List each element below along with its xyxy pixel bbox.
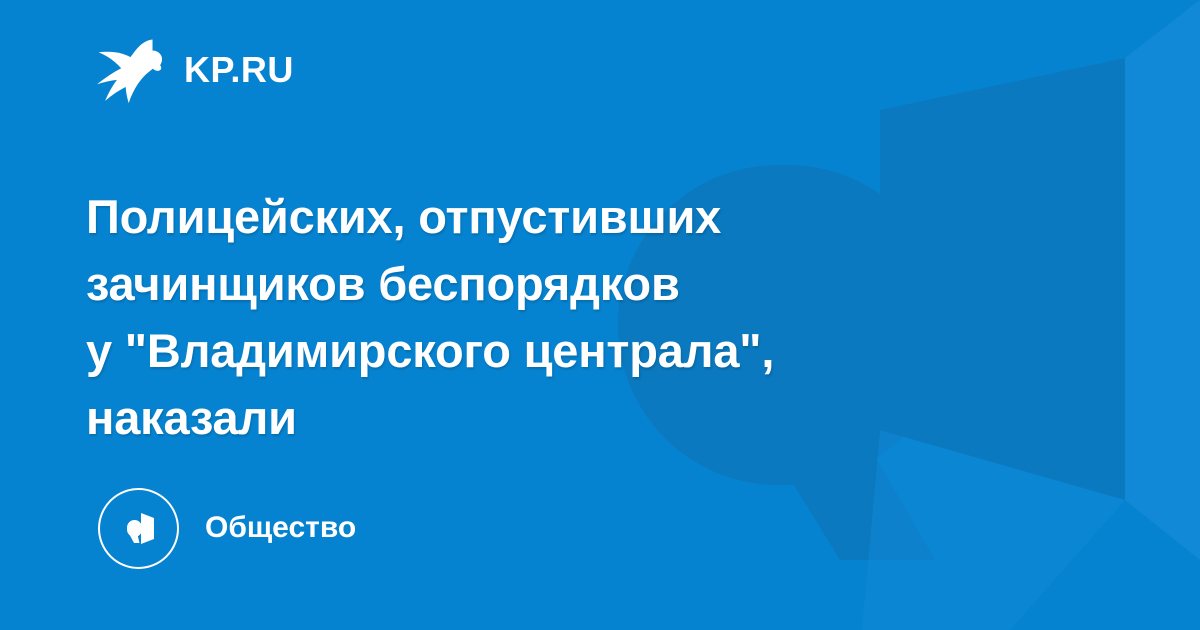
brand-logo[interactable]: KP.RU [88, 34, 294, 106]
brand-name: KP.RU [184, 52, 294, 88]
headline-line-3: у "Владимирского централа", [86, 317, 986, 384]
category-label: Общество [205, 513, 356, 543]
swallow-bird-icon [88, 35, 162, 105]
social-share-card: KP.RU Полицейских, отпустивших зачинщико… [0, 0, 1200, 630]
headline-line-1: Полицейских, отпустивших [86, 183, 986, 250]
headline-line-4: наказали [86, 384, 986, 451]
category-icon-ring [98, 488, 179, 569]
headline: Полицейских, отпустивших зачинщиков бесп… [86, 183, 986, 451]
headline-line-2: зачинщиков беспорядков [86, 250, 986, 317]
category-badge[interactable]: Общество [98, 487, 356, 569]
megaphone-icon [117, 506, 161, 550]
